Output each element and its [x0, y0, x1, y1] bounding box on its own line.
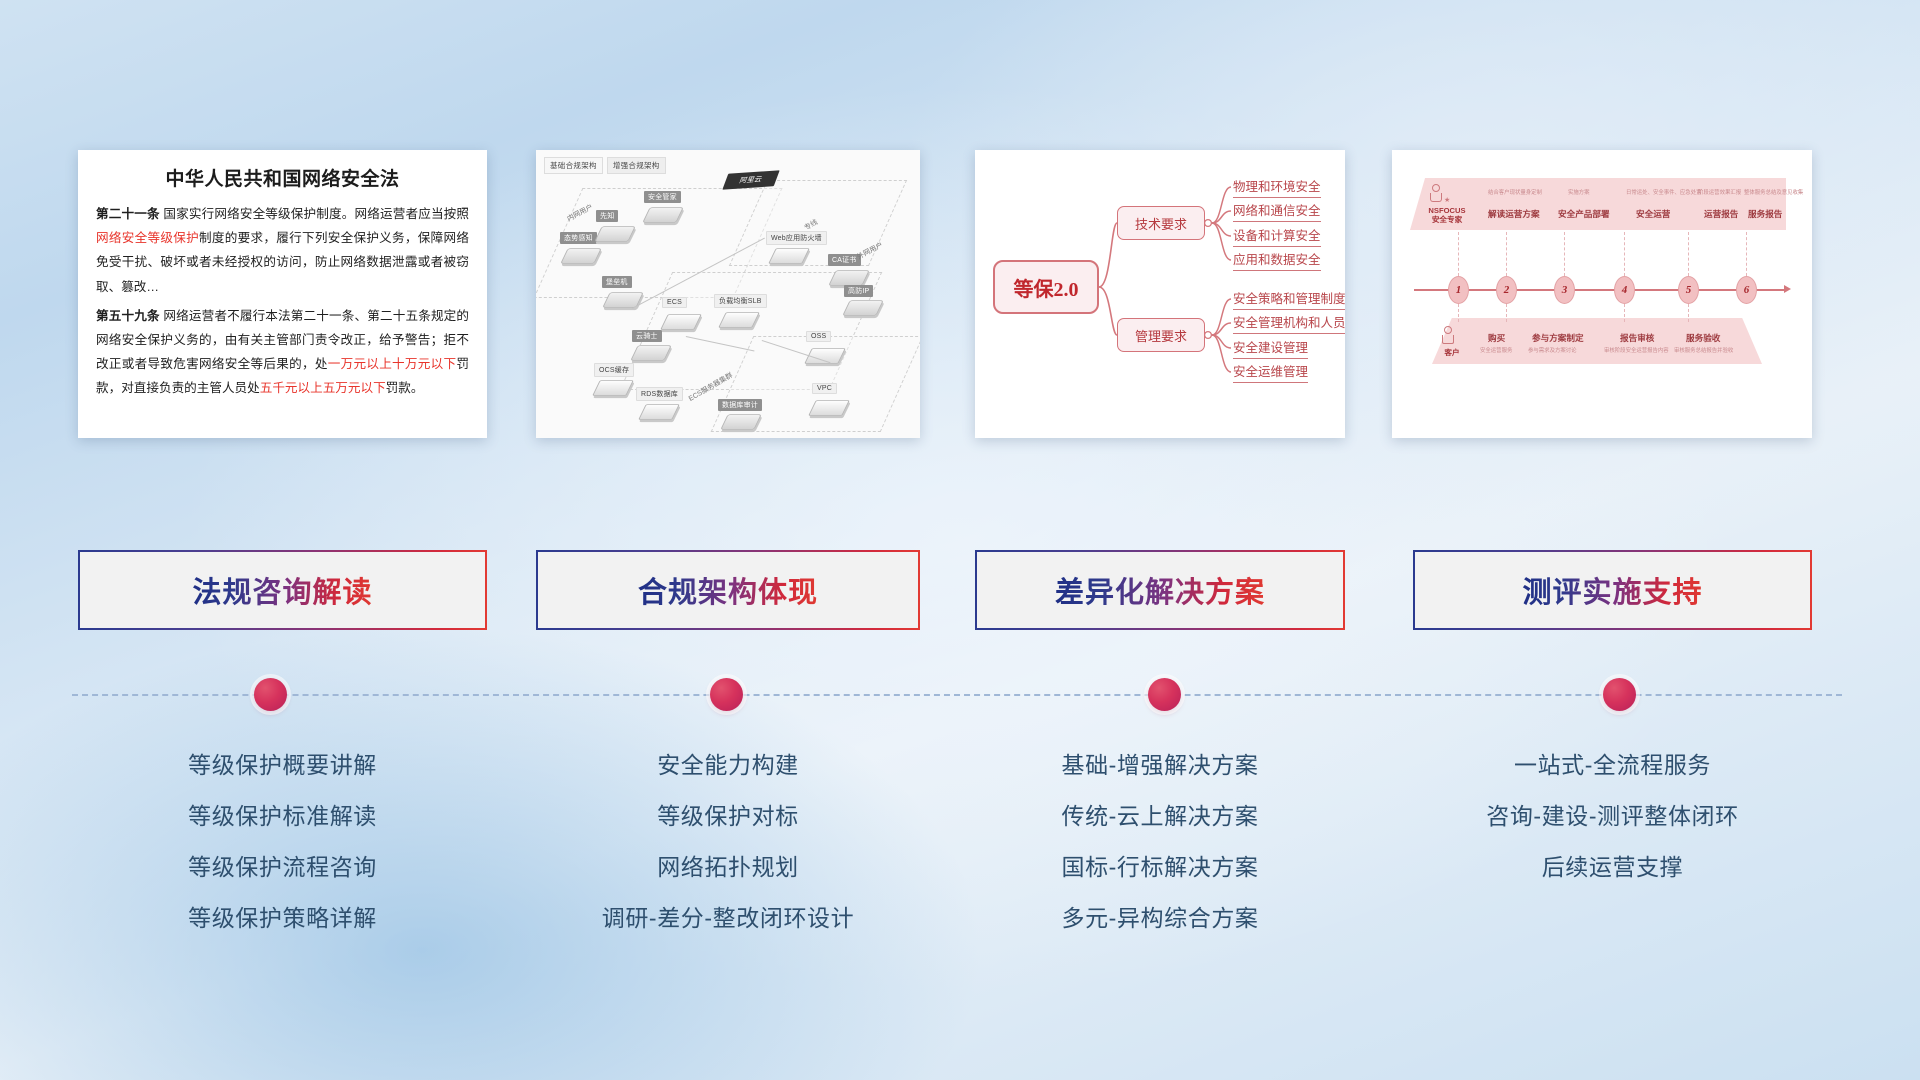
timeline-knot-4[interactable] — [1603, 678, 1636, 711]
list-item: 等级保护概要讲解 — [78, 740, 487, 791]
list-item: 等级保护标准解读 — [78, 791, 487, 842]
heading-box-evaluation-support[interactable]: 测评实施支持 — [1413, 550, 1812, 630]
list-item: 安全能力构建 — [536, 740, 920, 791]
heading-box-regulation-consulting[interactable]: 法规咨询解读 — [78, 550, 487, 630]
timeline-rail — [72, 694, 1842, 696]
heading-box-compliance-architecture[interactable]: 合规架构体现 — [536, 550, 920, 630]
list-item: 国标-行标解决方案 — [975, 842, 1345, 893]
timeline-knot-2[interactable] — [710, 678, 743, 711]
list-item: 等级保护策略详解 — [78, 893, 487, 944]
heading-box-differentiated-solution[interactable]: 差异化解决方案 — [975, 550, 1345, 630]
list-item: 多元-异构综合方案 — [975, 893, 1345, 944]
service-list-regulation-consulting: 等级保护概要讲解 等级保护标准解读 等级保护流程咨询 等级保护策略详解 — [78, 740, 487, 944]
heading-label-1: 法规咨询解读 — [192, 569, 372, 611]
list-item: 后续运营支撑 — [1413, 842, 1812, 893]
list-item: 网络拓扑规划 — [536, 842, 920, 893]
timeline-knot-3[interactable] — [1148, 678, 1181, 711]
service-list-differentiated-solution: 基础-增强解决方案 传统-云上解决方案 国标-行标解决方案 多元-异构综合方案 — [975, 740, 1345, 944]
list-item: 等级保护对标 — [536, 791, 920, 842]
heading-label-3: 差异化解决方案 — [1055, 569, 1265, 611]
service-list-evaluation-support: 一站式-全流程服务 咨询-建设-测评整体闭环 后续运营支撑 — [1413, 740, 1812, 893]
infographic-stage: 中华人民共和国网络安全法 第二十一条 国家实行网络安全等级保护制度。网络运营者应… — [0, 0, 1920, 1080]
list-item: 基础-增强解决方案 — [975, 740, 1345, 791]
heading-label-4: 测评实施支持 — [1522, 569, 1702, 611]
list-item: 传统-云上解决方案 — [975, 791, 1345, 842]
list-item: 咨询-建设-测评整体闭环 — [1413, 791, 1812, 842]
heading-label-2: 合规架构体现 — [638, 569, 818, 611]
list-item: 一站式-全流程服务 — [1413, 740, 1812, 791]
timeline-knot-1[interactable] — [254, 678, 287, 711]
list-item: 等级保护流程咨询 — [78, 842, 487, 893]
list-item: 调研-差分-整改闭环设计 — [536, 893, 920, 944]
service-list-compliance-architecture: 安全能力构建 等级保护对标 网络拓扑规划 调研-差分-整改闭环设计 — [536, 740, 920, 944]
